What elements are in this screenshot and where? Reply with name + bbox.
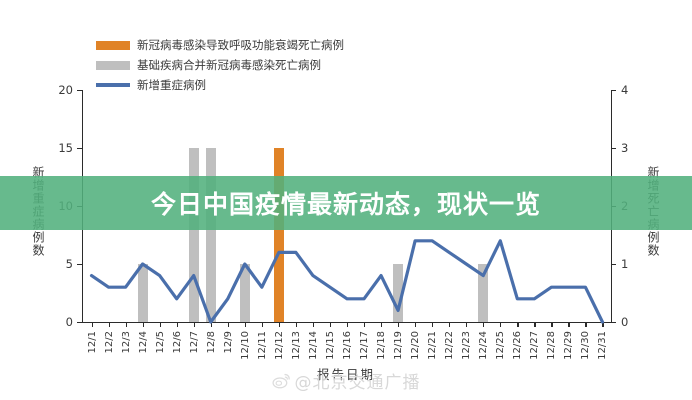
x-tick: [194, 322, 195, 327]
x-tick-label: 12/12: [274, 331, 285, 360]
x-tick-label: 12/10: [240, 331, 251, 360]
y-tick-right: [611, 264, 616, 265]
weibo-icon: [272, 371, 291, 390]
x-tick-label: 12/17: [359, 331, 370, 360]
x-tick: [500, 322, 501, 327]
y-tick-label-left: 5: [66, 257, 73, 271]
x-tick: [347, 322, 348, 327]
x-tick-label: 12/21: [427, 331, 438, 360]
y-tick-left: [77, 90, 82, 91]
x-tick-label: 12/8: [206, 331, 217, 353]
overlay-banner-text: 今日中国疫情最新动态，现状一览: [0, 176, 692, 230]
chart-screenshot: 新冠病毒感染导致呼吸功能衰竭死亡病例 基础疾病合并新冠病毒感染死亡病例 新增重症…: [0, 0, 692, 400]
x-tick: [228, 322, 229, 327]
x-tick-label: 12/4: [138, 331, 149, 353]
x-tick: [160, 322, 161, 327]
x-tick-label: 12/9: [223, 331, 234, 353]
y-tick-label-right: 1: [621, 257, 628, 271]
x-tick-label: 12/13: [291, 331, 302, 360]
x-tick: [330, 322, 331, 327]
x-tick: [143, 322, 144, 327]
x-tick-label: 12/25: [495, 331, 506, 360]
x-tick: [245, 322, 246, 327]
y-tick-label-right: 3: [621, 141, 628, 155]
y-tick-label-right: 0: [621, 315, 628, 329]
x-tick-label: 12/28: [546, 331, 557, 360]
x-tick: [398, 322, 399, 327]
legend-swatch-line: [96, 83, 130, 87]
y-tick-left: [77, 322, 82, 323]
x-tick: [381, 322, 382, 327]
x-tick: [517, 322, 518, 327]
y-tick-label-left: 20: [58, 83, 73, 97]
x-tick-label: 12/18: [376, 331, 387, 360]
y-tick-label-left: 0: [66, 315, 73, 329]
legend-item-respiratory-failure-deaths: 新冠病毒感染导致呼吸功能衰竭死亡病例: [96, 36, 344, 54]
x-tick: [126, 322, 127, 327]
x-tick: [364, 322, 365, 327]
x-tick-label: 12/11: [257, 331, 268, 360]
x-tick-label: 12/6: [172, 331, 183, 353]
x-tick-label: 12/14: [308, 331, 319, 360]
x-tick: [177, 322, 178, 327]
x-tick: [92, 322, 93, 327]
legend-item-comorbidity-deaths: 基础疾病合并新冠病毒感染死亡病例: [96, 56, 344, 74]
x-tick-label: 12/16: [342, 331, 353, 360]
x-tick-label: 12/19: [393, 331, 404, 360]
x-tick-label: 12/31: [597, 331, 608, 360]
y-tick-label-left: 15: [58, 141, 73, 155]
x-tick-label: 12/30: [580, 331, 591, 360]
x-tick-label: 12/27: [529, 331, 540, 360]
x-tick: [432, 322, 433, 327]
x-tick-label: 12/29: [563, 331, 574, 360]
legend-label: 新冠病毒感染导致呼吸功能衰竭死亡病例: [137, 39, 344, 52]
chart-legend: 新冠病毒感染导致呼吸功能衰竭死亡病例 基础疾病合并新冠病毒感染死亡病例 新增重症…: [96, 36, 344, 96]
legend-swatch-gray: [96, 61, 130, 70]
x-tick-label: 12/20: [410, 331, 421, 360]
x-tick: [262, 322, 263, 327]
x-tick: [466, 322, 467, 327]
legend-swatch-orange: [96, 41, 130, 50]
y-tick-right: [611, 90, 616, 91]
x-tick: [415, 322, 416, 327]
x-tick: [449, 322, 450, 327]
weibo-watermark: @北京交通广播: [0, 368, 692, 393]
y-tick-right: [611, 322, 616, 323]
y-tick-label-right: 4: [621, 83, 628, 97]
y-tick-left: [77, 148, 82, 149]
x-tick-label: 12/1: [87, 331, 98, 353]
x-tick-label: 12/5: [155, 331, 166, 353]
legend-label: 基础疾病合并新冠病毒感染死亡病例: [137, 59, 321, 72]
x-tick: [534, 322, 535, 327]
x-tick-label: 12/3: [121, 331, 132, 353]
y-tick-right: [611, 148, 616, 149]
x-tick: [296, 322, 297, 327]
x-tick: [109, 322, 110, 327]
x-tick: [551, 322, 552, 327]
watermark-text: @北京交通广播: [295, 368, 421, 393]
x-tick: [568, 322, 569, 327]
x-tick-label: 12/15: [325, 331, 336, 360]
x-tick-label: 12/7: [189, 331, 200, 353]
x-tick: [483, 322, 484, 327]
x-tick-label: 12/26: [512, 331, 523, 360]
x-tick-label: 12/23: [461, 331, 472, 360]
x-tick-label: 12/2: [104, 331, 115, 353]
x-tick-label: 12/22: [444, 331, 455, 360]
y-tick-left: [77, 264, 82, 265]
x-tick: [585, 322, 586, 327]
x-tick-label: 12/24: [478, 331, 489, 360]
x-tick: [279, 322, 280, 327]
x-tick: [313, 322, 314, 327]
